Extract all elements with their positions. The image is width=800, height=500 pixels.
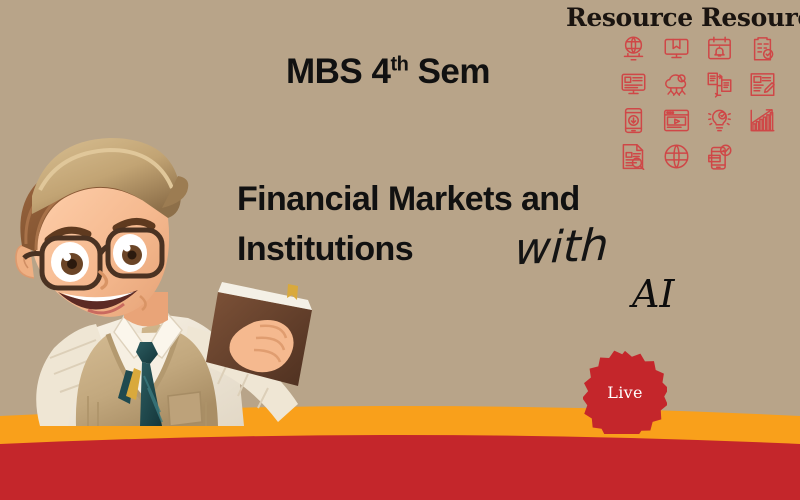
document-workflow-icon xyxy=(698,66,741,102)
semester-suffix: Sem xyxy=(408,52,490,91)
video-player-icon xyxy=(655,102,698,138)
cloud-computing-icon xyxy=(655,66,698,102)
resource-icon-grid xyxy=(612,30,784,174)
document-edit-icon xyxy=(741,66,784,102)
growth-bar-chart-icon xyxy=(741,102,784,138)
desktop-monitor-icon xyxy=(655,30,698,66)
clipboard-check-icon xyxy=(741,30,784,66)
global-presentation-icon xyxy=(612,30,655,66)
live-badge-label: Live xyxy=(583,350,667,434)
globe-web-icon xyxy=(655,138,698,174)
semester-prefix: MBS 4 xyxy=(286,52,390,91)
topic-word-ai: AI xyxy=(632,272,674,316)
mobile-verified-icon xyxy=(698,138,741,174)
semester-superscript: th xyxy=(390,53,408,75)
semester-label: MBS 4th Sem xyxy=(286,52,490,92)
red-band xyxy=(0,435,800,500)
monitor-document-icon xyxy=(612,66,655,102)
promotional-banner: Resource Resource xyxy=(0,0,800,500)
connector-word: with xyxy=(513,220,609,276)
document-search-icon xyxy=(612,138,655,174)
mobile-download-icon xyxy=(612,102,655,138)
live-badge[interactable]: Live xyxy=(583,350,667,434)
page-title: Resource Resource xyxy=(566,3,796,32)
idea-lightbulb-icon xyxy=(698,102,741,138)
calendar-reminder-icon xyxy=(698,30,741,66)
